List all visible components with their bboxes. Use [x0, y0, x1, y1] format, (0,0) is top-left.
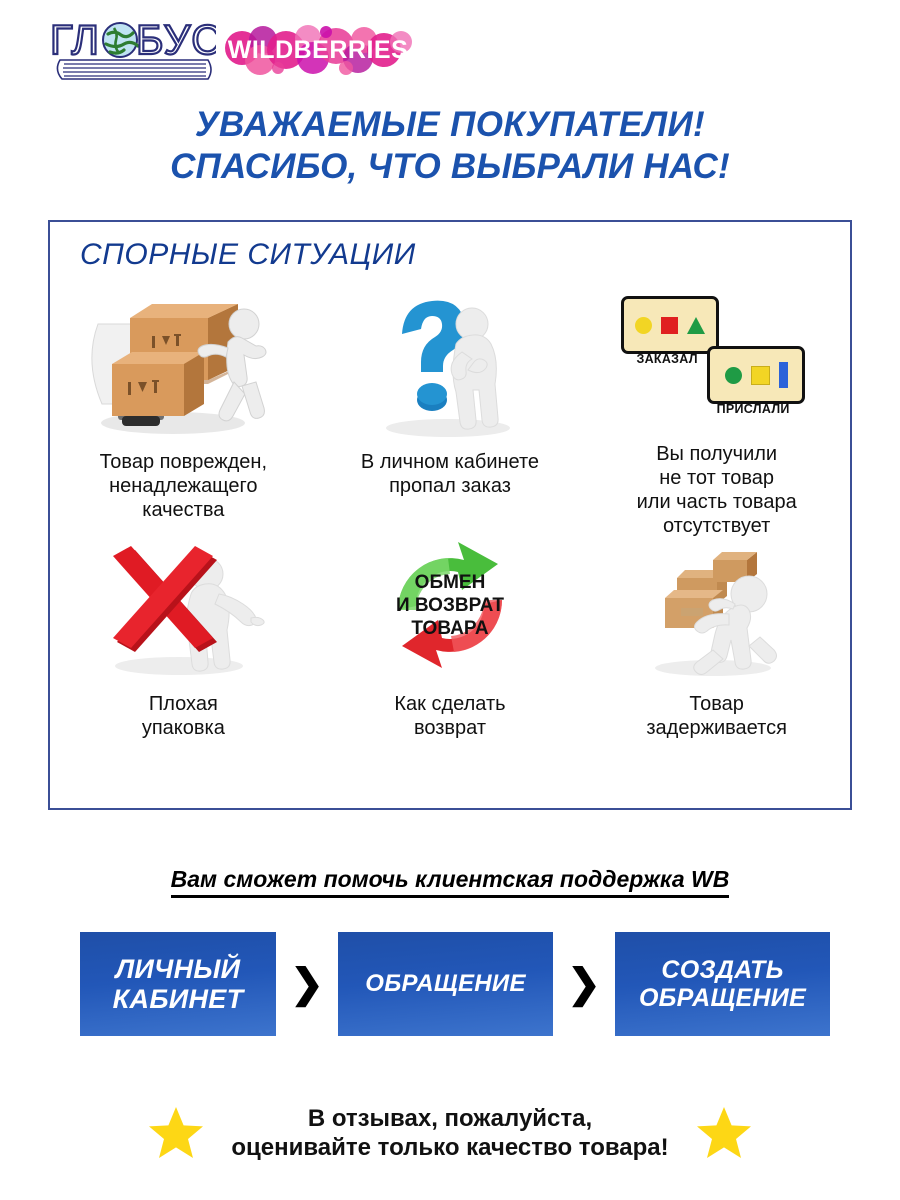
- caption-line: или часть товара: [637, 490, 797, 514]
- headline-line-2: СПАСИБО, ЧТО ВЫБРАЛИ НАС!: [0, 146, 900, 188]
- step-line: ОБРАЩЕНИЕ: [365, 971, 526, 998]
- step-line: ЛИЧНЫЙ: [113, 954, 244, 984]
- red-cross-icon: [68, 538, 298, 678]
- step-line: СОЗДАТЬ: [639, 956, 806, 984]
- situation-caption: Товар поврежден, ненадлежащего качества: [100, 450, 267, 522]
- badge-line: И ВОЗВРАТ: [396, 595, 504, 616]
- green-triangle-icon: [687, 317, 705, 334]
- situation-caption: Вы получили не тот товар или часть товар…: [637, 442, 797, 538]
- caption-line: не тот товар: [637, 466, 797, 490]
- brand-logos: ГЛ БУС WILDBERRIES: [48, 12, 448, 86]
- support-note: Вам сможет помочь клиентская поддержка W…: [0, 866, 900, 893]
- situation-item-wrong-item: ЗАКАЗАЛ ПРИСЛАЛИ Вы получили не тот това…: [583, 290, 850, 538]
- caption-line: ненадлежащего: [100, 474, 267, 498]
- footer-text: В отзывах, пожалуйста, оценивайте только…: [231, 1104, 668, 1162]
- caption-line: Как сделать: [394, 692, 505, 716]
- situation-item-how-to-return: ОБМЕН И ВОЗВРАТ ТОВАРА Как сделать возвр…: [317, 538, 584, 778]
- caption-line: Товар: [646, 692, 787, 716]
- caption-line: Товар поврежден,: [100, 450, 267, 474]
- step-create-request[interactable]: СОЗДАТЬ ОБРАЩЕНИЕ: [615, 932, 830, 1036]
- caption-line: пропал заказ: [361, 474, 539, 498]
- footer-line: В отзывах, пожалуйста,: [231, 1104, 668, 1133]
- caption-line: отсутствует: [637, 514, 797, 538]
- support-note-text: Вам сможет помочь клиентская поддержка W…: [171, 866, 730, 898]
- step-personal-account[interactable]: ЛИЧНЫЙ КАБИНЕТ: [80, 932, 276, 1036]
- question-mark-icon: [335, 290, 565, 440]
- support-steps: ЛИЧНЫЙ КАБИНЕТ ❯ ОБРАЩЕНИЕ ❯ СОЗДАТЬ ОБР…: [80, 932, 830, 1036]
- situation-item-lost-order: В личном кабинете пропал заказ: [317, 290, 584, 538]
- situation-caption: В личном кабинете пропал заказ: [361, 450, 539, 498]
- blue-bar-icon: [779, 362, 788, 388]
- caption-line: возврат: [394, 716, 505, 740]
- page-headline: УВАЖАЕМЫЕ ПОКУПАТЕЛИ! СПАСИБО, ЧТО ВЫБРА…: [0, 104, 900, 188]
- caption-line: упаковка: [142, 716, 225, 740]
- yellow-circle-icon: [635, 317, 652, 334]
- badge-line: ОБМЕН: [415, 572, 486, 593]
- received-box: [707, 346, 805, 404]
- star-icon: [147, 1105, 205, 1161]
- damaged-package-icon: [68, 290, 298, 440]
- badge-line: ТОВАРА: [411, 618, 488, 639]
- step-line: КАБИНЕТ: [113, 984, 244, 1014]
- ordered-vs-received-icon: ЗАКАЗАЛ ПРИСЛАЛИ: [602, 290, 832, 432]
- chevron-right-icon: ❯: [553, 961, 615, 1007]
- chevron-right-icon: ❯: [276, 961, 338, 1007]
- step-request[interactable]: ОБРАЩЕНИЕ: [338, 932, 553, 1036]
- yellow-square-icon: [751, 366, 770, 385]
- situation-caption: Товар задерживается: [646, 692, 787, 740]
- situation-item-damaged: Товар поврежден, ненадлежащего качества: [50, 290, 317, 538]
- situations-grid: Товар поврежден, ненадлежащего качества: [50, 290, 850, 778]
- footer-line: оценивайте только качество товара!: [231, 1133, 668, 1162]
- wildberries-wordmark: WILDBERRIES: [228, 36, 409, 64]
- situation-item-bad-packaging: Плохая упаковка: [50, 538, 317, 778]
- received-label: ПРИСЛАЛИ: [704, 402, 802, 416]
- caption-line: задерживается: [646, 716, 787, 740]
- wildberries-logo: WILDBERRIES: [218, 24, 418, 76]
- headline-line-1: УВАЖАЕМЫЕ ПОКУПАТЕЛИ!: [0, 104, 900, 146]
- situation-caption: Как сделать возврат: [394, 692, 505, 740]
- exchange-return-icon: ОБМЕН И ВОЗВРАТ ТОВАРА: [335, 538, 565, 678]
- ordered-box: [621, 296, 719, 354]
- ordered-label: ЗАКАЗАЛ: [621, 352, 713, 366]
- green-circle-icon: [725, 367, 742, 384]
- situation-item-delayed: Товар задерживается: [583, 538, 850, 778]
- caption-line: В личном кабинете: [361, 450, 539, 474]
- caption-line: Вы получили: [637, 442, 797, 466]
- step-line: ОБРАЩЕНИЕ: [639, 984, 806, 1012]
- carrying-boxes-icon: [602, 538, 832, 678]
- svg-text:БУС: БУС: [136, 16, 216, 63]
- svg-text:ГЛ: ГЛ: [50, 16, 100, 63]
- footer-note: В отзывах, пожалуйста, оценивайте только…: [0, 1098, 900, 1168]
- caption-line: Плохая: [142, 692, 225, 716]
- situation-caption: Плохая упаковка: [142, 692, 225, 740]
- globus-logo: ГЛ БУС: [48, 14, 216, 82]
- caption-line: качества: [100, 498, 267, 522]
- red-square-icon: [661, 317, 678, 334]
- disputes-panel: СПОРНЫЕ СИТУАЦИИ: [48, 220, 852, 810]
- star-icon: [695, 1105, 753, 1161]
- panel-title: СПОРНЫЕ СИТУАЦИИ: [80, 238, 416, 272]
